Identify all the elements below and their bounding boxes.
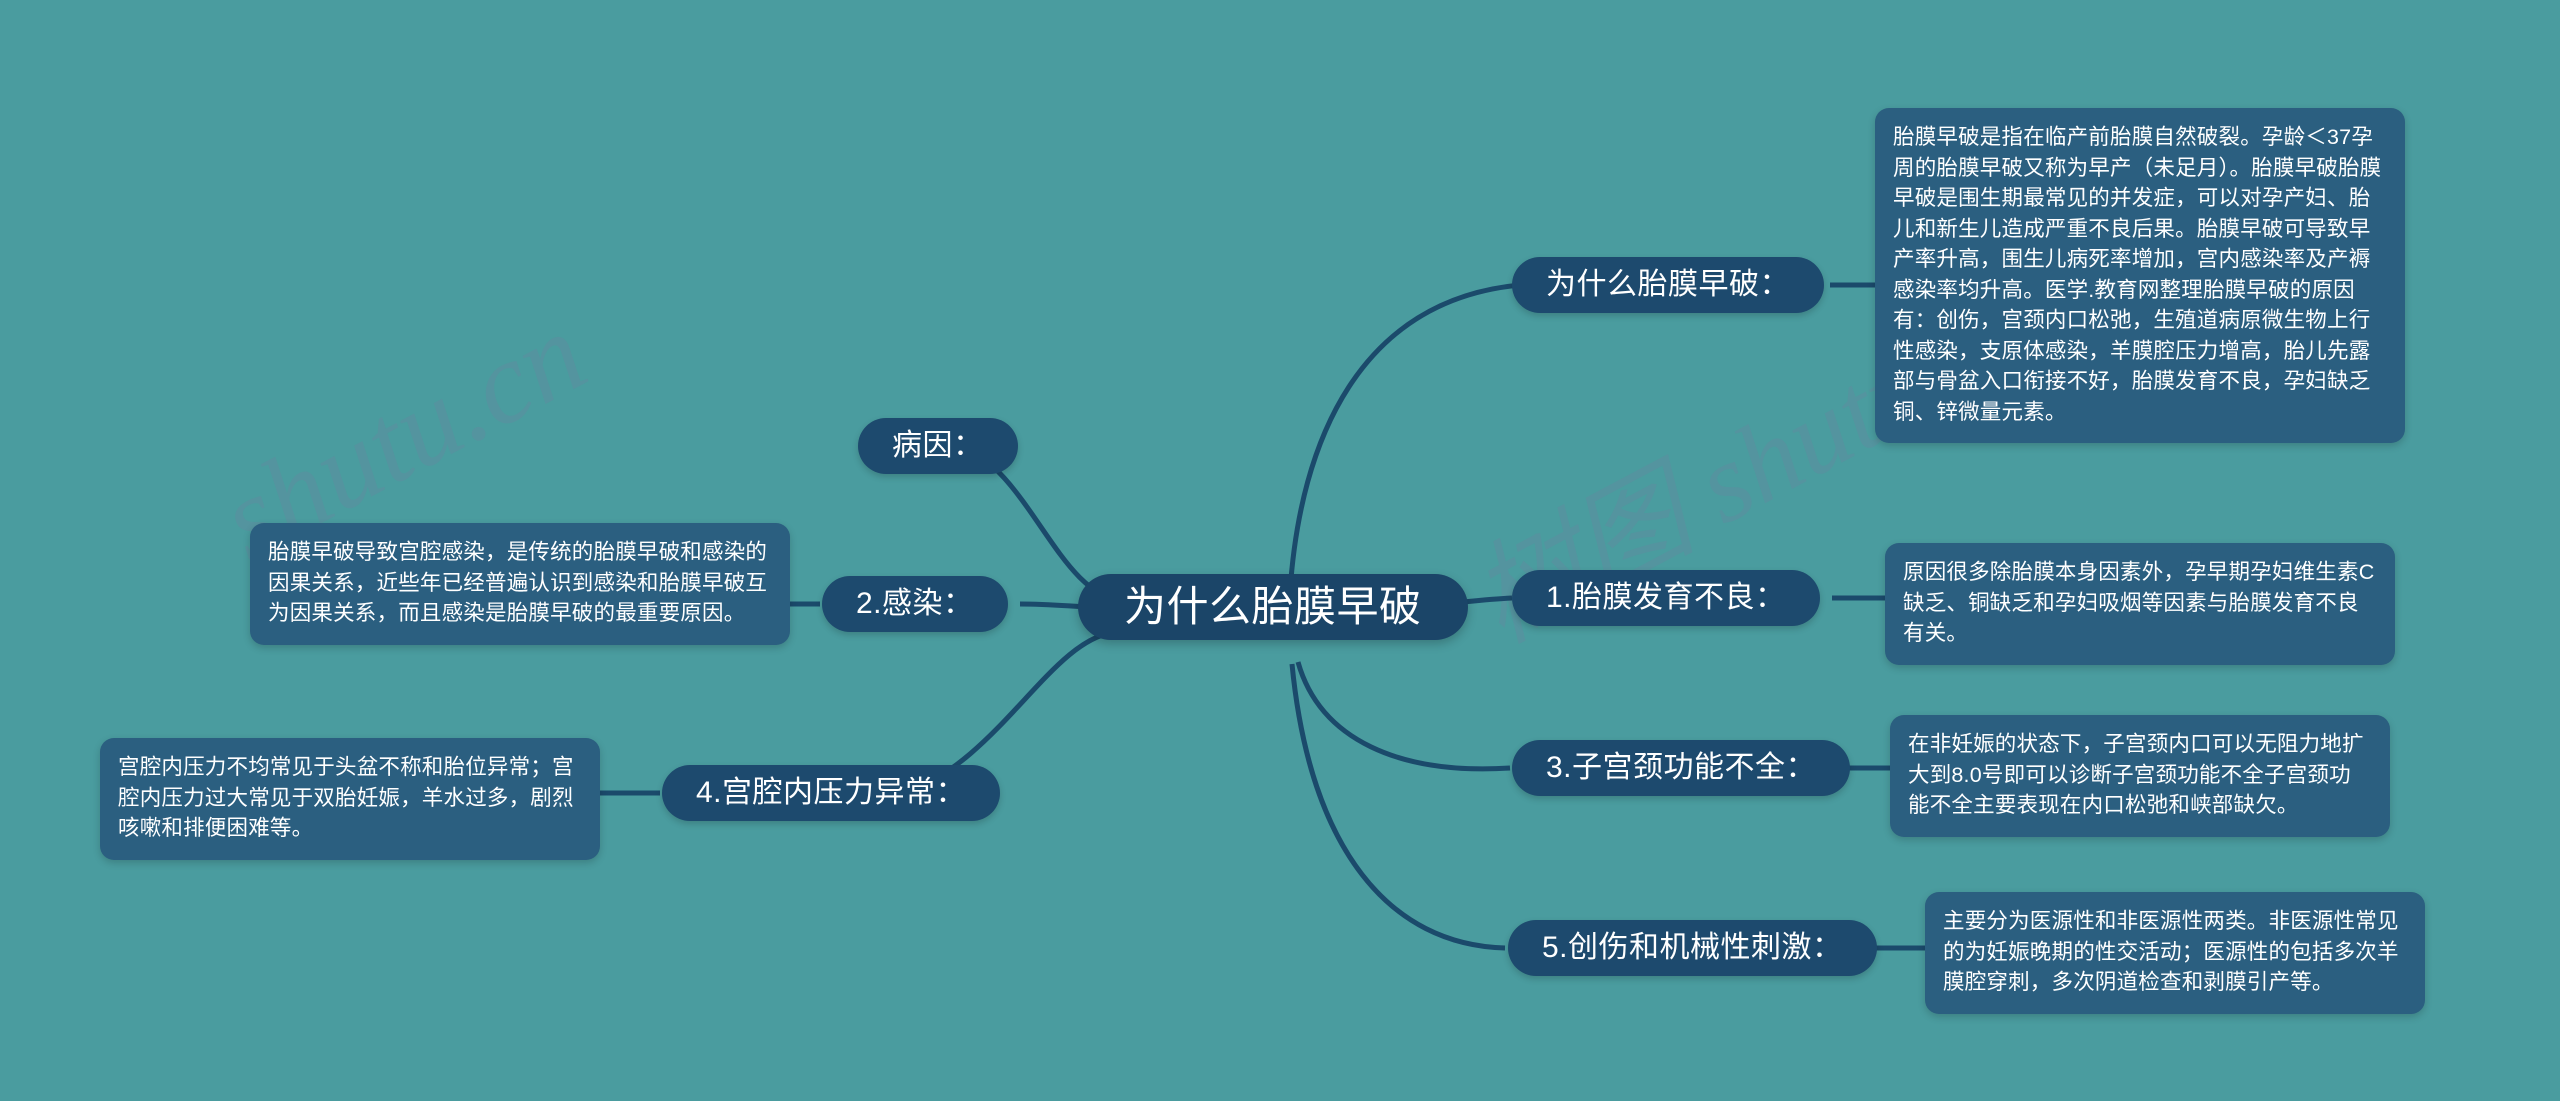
node-intrauterine-pressure-label: 4.宫腔内压力异常： <box>696 778 966 808</box>
node-cervical-insufficiency[interactable]: 3.子宫颈功能不全： <box>1512 740 1850 796</box>
node-intrauterine-pressure[interactable]: 4.宫腔内压力异常： <box>662 765 1000 821</box>
link-root-why <box>1290 285 1520 592</box>
link-root-trauma <box>1292 664 1505 948</box>
detail-trauma-mechanical: 主要分为医源性和非医源性两类。非医源性常见的为妊娠晚期的性交活动；医源性的包括多… <box>1925 892 2425 1014</box>
node-membrane-dysplasia-label: 1.胎膜发育不良： <box>1546 583 1786 613</box>
node-cause[interactable]: 病因： <box>858 418 1018 474</box>
node-infection[interactable]: 2.感染： <box>822 576 1008 632</box>
node-infection-label: 2.感染： <box>856 589 974 619</box>
detail-membrane-dysplasia: 原因很多除胎膜本身因素外，孕早期孕妇维生素C缺乏、铜缺乏和孕妇吸烟等因素与胎膜发… <box>1885 543 2395 665</box>
node-why-prom-label: 为什么胎膜早破： <box>1546 270 1790 300</box>
root-node[interactable]: 为什么胎膜早破 <box>1078 574 1468 640</box>
node-cervical-insufficiency-label: 3.子宫颈功能不全： <box>1546 753 1816 783</box>
node-membrane-dysplasia[interactable]: 1.胎膜发育不良： <box>1512 570 1820 626</box>
link-root-cervical <box>1298 662 1510 769</box>
mindmap-canvas: shutu.cn 树图 shutu 为什么胎膜早破 病因： 2.感染： <box>0 0 2560 1101</box>
node-cause-label: 病因： <box>892 431 984 461</box>
detail-cervical-insufficiency: 在非妊娠的状态下，子宫颈内口可以无阻力地扩大到8.0号即可以诊断子宫颈功能不全子… <box>1890 715 2390 837</box>
root-node-label: 为什么胎膜早破 <box>1124 586 1422 628</box>
node-trauma-mechanical[interactable]: 5.创伤和机械性刺激： <box>1508 920 1877 976</box>
detail-intrauterine-pressure: 宫腔内压力不均常见于头盆不称和胎位异常；宫腔内压力过大常见于双胎妊娠，羊水过多，… <box>100 738 600 860</box>
detail-why-prom: 胎膜早破是指在临产前胎膜自然破裂。孕龄＜37孕周的胎膜早破又称为早产（未足月）。… <box>1875 108 2405 443</box>
detail-infection: 胎膜早破导致宫腔感染，是传统的胎膜早破和感染的因果关系，近些年已经普遍认识到感染… <box>250 523 790 645</box>
node-why-prom[interactable]: 为什么胎膜早破： <box>1512 257 1824 313</box>
node-trauma-mechanical-label: 5.创伤和机械性刺激： <box>1542 933 1843 963</box>
